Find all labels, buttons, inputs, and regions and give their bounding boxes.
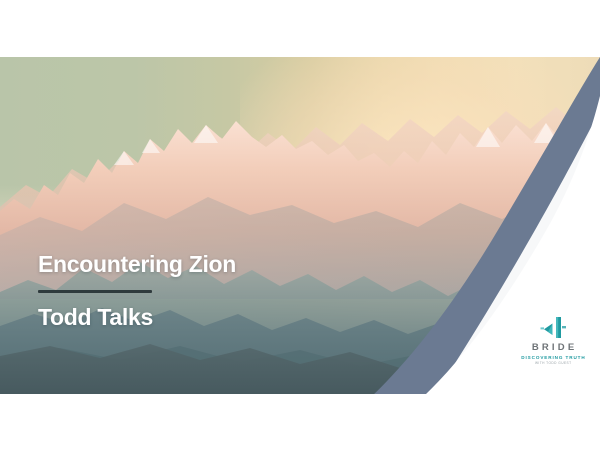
logo-tagline: DISCOVERING TRUTH bbox=[515, 356, 591, 361]
presentation-slide: Encountering Zion Todd Talks BRIDE DISCO… bbox=[0, 0, 600, 450]
title-divider bbox=[38, 290, 152, 293]
bride-d-monogram-icon bbox=[515, 316, 591, 340]
top-white-bar bbox=[0, 0, 600, 57]
title-block: Encountering Zion Todd Talks bbox=[38, 252, 368, 331]
slide-title: Encountering Zion bbox=[38, 252, 368, 277]
mountain-layer-foreground bbox=[0, 320, 600, 394]
slide-subtitle: Todd Talks bbox=[38, 305, 368, 330]
logo-subtagline: WITH TODD GUEST bbox=[515, 362, 591, 365]
logo-wordmark: BRIDE bbox=[515, 343, 591, 353]
bride-logo: BRIDE DISCOVERING TRUTH WITH TODD GUEST bbox=[515, 316, 591, 365]
bottom-white-bar bbox=[0, 394, 600, 450]
background-photo bbox=[0, 57, 600, 394]
